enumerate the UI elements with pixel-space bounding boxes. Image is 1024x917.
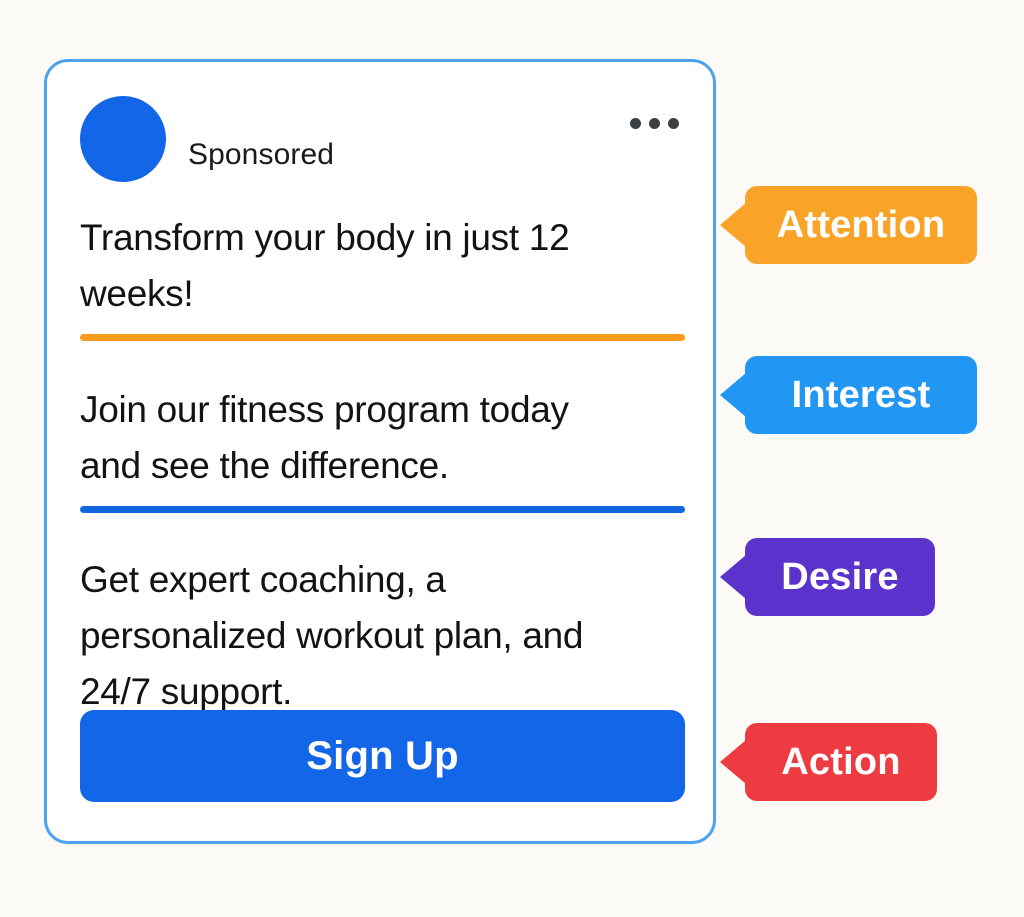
callout-badge-label: Attention bbox=[777, 204, 946, 247]
ad-desire-text: Get expert coaching, a personalized work… bbox=[80, 552, 685, 720]
sign-up-button[interactable]: Sign Up bbox=[80, 710, 685, 802]
more-dot-3 bbox=[668, 118, 679, 129]
sponsored-ad-card: Sponsored Transform your body in just 12… bbox=[44, 59, 716, 844]
callout-badge-label: Interest bbox=[792, 374, 931, 417]
ad-interest-text: Join our fitness program today and see t… bbox=[80, 382, 685, 494]
callout-badge-attention: Attention bbox=[745, 186, 977, 264]
callout-badge-label: Desire bbox=[781, 556, 898, 599]
ad-section-interest: Join our fitness program today and see t… bbox=[80, 382, 685, 513]
sponsored-label: Sponsored bbox=[188, 138, 334, 172]
more-dot-2 bbox=[649, 118, 660, 129]
divider-attention bbox=[80, 334, 685, 341]
callout-badge-desire: Desire bbox=[745, 538, 935, 616]
more-options-icon[interactable] bbox=[630, 118, 679, 129]
avatar bbox=[80, 96, 166, 182]
ad-headline-text: Transform your body in just 12 weeks! bbox=[80, 210, 685, 322]
callout-badge-action: Action bbox=[745, 723, 937, 801]
callout-badge-label: Action bbox=[781, 741, 900, 784]
ad-section-attention: Transform your body in just 12 weeks! bbox=[80, 210, 685, 341]
callout-badge-interest: Interest bbox=[745, 356, 977, 434]
divider-interest bbox=[80, 506, 685, 513]
ad-card-header: Sponsored bbox=[80, 96, 685, 182]
more-dot-1 bbox=[630, 118, 641, 129]
